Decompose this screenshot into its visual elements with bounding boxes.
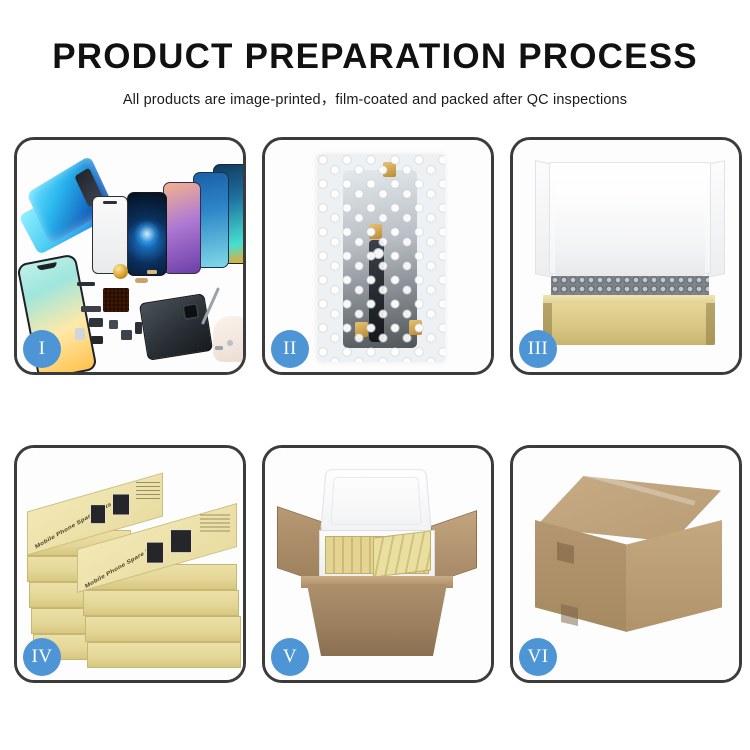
carton-body <box>307 584 447 656</box>
part-chip <box>81 306 101 312</box>
part-chip <box>77 282 95 286</box>
box-spec-lines <box>200 514 230 534</box>
part-chip <box>121 330 132 340</box>
carton-flap-left <box>277 506 323 584</box>
box-stack: Mobile Phone Spare Parts Mobile Phone Sp… <box>25 468 241 668</box>
step-card-2: II <box>262 137 494 375</box>
box-window <box>146 542 164 564</box>
part-chip <box>89 318 103 327</box>
product-preparation-infographic: PRODUCT PREPARATION PROCESS All products… <box>0 0 750 750</box>
step-card-4: Mobile Phone Spare Parts Mobile Phone Sp… <box>14 445 246 683</box>
hand-icon <box>213 316 243 362</box>
step-badge-4: IV <box>23 638 61 676</box>
part-chip <box>91 336 103 344</box>
packing-tape-icon <box>561 604 578 626</box>
foam-sheet-icon <box>555 184 705 276</box>
kraft-box-front <box>543 303 715 345</box>
circuit-board-icon <box>103 288 129 312</box>
part-chip <box>147 270 157 274</box>
step-badge-2: II <box>271 330 309 368</box>
bubble-texture <box>317 154 445 362</box>
phone-purple-icon <box>163 182 201 274</box>
foam-lid-icon <box>320 469 432 534</box>
part-chip <box>135 278 148 283</box>
part-chip <box>109 320 118 329</box>
tempered-glass-icon <box>92 196 128 274</box>
step-badge-3: III <box>519 330 557 368</box>
step-card-1: I <box>14 137 246 375</box>
bubble-bag-icon <box>317 154 445 362</box>
packing-tape-icon <box>557 542 574 564</box>
part-chip <box>135 322 142 334</box>
gold-component-icon <box>113 264 128 279</box>
carton-flap-right <box>431 510 477 584</box>
step-badge-6: VI <box>519 638 557 676</box>
phone-dark-icon <box>127 192 167 276</box>
part-chip <box>215 346 223 350</box>
process-step-grid: I II <box>14 137 736 683</box>
step-card-6: VI <box>510 445 742 683</box>
part-chip <box>75 328 85 340</box>
box-window <box>112 494 130 516</box>
step-badge-5: V <box>271 638 309 676</box>
box-window <box>90 504 106 524</box>
page-subtitle: All products are image-printed，film-coat… <box>0 88 750 109</box>
box-spec-lines <box>136 482 160 500</box>
phone-housing-icon <box>139 293 213 361</box>
stacked-box <box>87 642 241 668</box>
header: PRODUCT PREPARATION PROCESS All products… <box>0 0 750 109</box>
stacked-box <box>83 590 239 616</box>
step-card-5: V <box>262 445 494 683</box>
kraft-boxes-inside <box>373 530 431 577</box>
part-chip <box>227 340 233 346</box>
box-window <box>170 529 192 553</box>
page-title: PRODUCT PREPARATION PROCESS <box>0 38 750 77</box>
step-badge-1: I <box>23 330 61 368</box>
step-card-3: III <box>510 137 742 375</box>
stacked-box <box>85 616 241 642</box>
carton-left-face <box>535 520 627 632</box>
